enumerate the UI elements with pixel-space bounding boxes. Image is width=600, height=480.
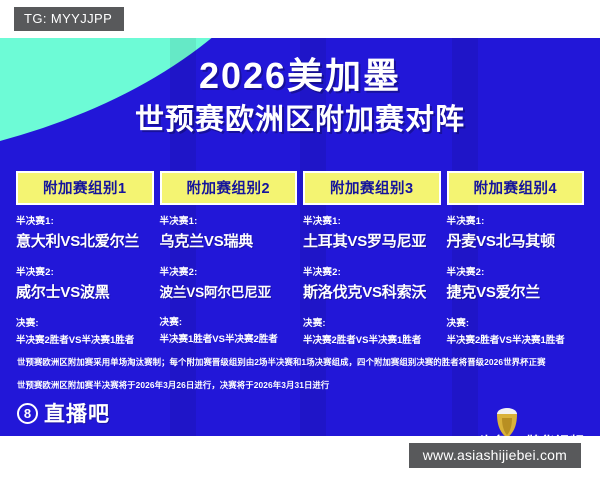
brand-name: 直播吧: [44, 398, 110, 428]
final-match: 半决赛1胜者VS半决赛2胜者: [160, 331, 298, 345]
final-match: 半决赛2胜者VS半决赛1胜者: [303, 332, 441, 346]
telegram-watermark: TG: MYYJJPP: [14, 7, 124, 31]
semifinal-1-match: 乌克兰VS瑞典: [160, 230, 298, 251]
semifinal-1-label: 半决赛1:: [160, 213, 298, 227]
footnotes: 世预赛欧洲区附加赛采用单场淘汰赛制；每个附加赛晋级组别由2场半决赛和1场决赛组成…: [17, 356, 589, 402]
semifinal-1-match: 丹麦VS北马其顿: [447, 230, 585, 251]
headline-line-2: 世预赛欧洲区附加赛对阵: [0, 105, 600, 137]
semifinal-2-match: 捷克VS爱尔兰: [447, 281, 585, 302]
semifinal-2-label: 半决赛2:: [303, 264, 441, 278]
semifinal-1-match: 土耳其VS罗马尼亚: [303, 230, 441, 251]
semifinal-2-match: 斯洛伐克VS科索沃: [303, 281, 441, 302]
group-column-2: 附加赛组别2 半决赛1: 乌克兰VS瑞典 半决赛2: 波兰VS阿尔巴尼亚 决赛:…: [160, 171, 298, 346]
poster-body: 2026美加墨 世预赛欧洲区附加赛对阵 附加赛组别1 半决赛1: 意大利VS北爱…: [0, 38, 600, 436]
semifinal-2-label: 半决赛2:: [160, 264, 298, 278]
group-body: 半决赛1: 意大利VS北爱尔兰 半决赛2: 威尔士VS波黑 决赛: 半决赛2胜者…: [16, 205, 154, 346]
playoff-bracket-grid: 附加赛组别1 半决赛1: 意大利VS北爱尔兰 半决赛2: 威尔士VS波黑 决赛:…: [16, 171, 584, 346]
semifinal-1-label: 半决赛1:: [16, 213, 154, 227]
final-match: 半决赛2胜者VS半决赛1胜者: [447, 332, 585, 346]
semifinal-1-label: 半决赛1:: [447, 213, 585, 227]
group-header: 附加赛组别4: [447, 171, 585, 205]
group-header: 附加赛组别1: [16, 171, 154, 205]
final-match: 半决赛2胜者VS半决赛1胜者: [16, 332, 154, 346]
group-body: 半决赛1: 乌克兰VS瑞典 半决赛2: 波兰VS阿尔巴尼亚 决赛: 半决赛1胜者…: [160, 205, 298, 345]
final-block: 决赛: 半决赛2胜者VS半决赛1胜者: [303, 315, 441, 346]
footnote-dates: 世预赛欧洲区附加赛半决赛将于2026年3月26日进行，决赛将于2026年3月31…: [17, 379, 589, 391]
group-column-4: 附加赛组别4 半决赛1: 丹麦VS北马其顿 半决赛2: 捷克VS爱尔兰 决赛: …: [447, 171, 585, 346]
headline-line-1: 2026美加墨: [0, 56, 600, 96]
semifinal-2-label: 半决赛2:: [16, 264, 154, 278]
site-url-watermark: www.asiashijiebei.com: [409, 443, 581, 468]
footnote-format: 世预赛欧洲区附加赛采用单场淘汰赛制；每个附加赛晋级组别由2场半决赛和1场决赛组成…: [17, 356, 589, 368]
final-label: 决赛:: [160, 314, 298, 328]
semifinal-2-label: 半决赛2:: [447, 264, 585, 278]
final-block: 决赛: 半决赛2胜者VS半决赛1胜者: [447, 315, 585, 346]
group-body: 半决赛1: 土耳其VS罗马尼亚 半决赛2: 斯洛伐克VS科索沃 决赛: 半决赛2…: [303, 205, 441, 346]
semifinal-2-match: 波兰VS阿尔巴尼亚: [160, 281, 298, 301]
final-label: 决赛:: [16, 315, 154, 329]
poster-screenshot: TG: MYYJJPP 2026美加墨 世预赛欧洲区附加赛对阵 附加赛组别1 半…: [0, 0, 600, 480]
final-block: 决赛: 半决赛1胜者VS半决赛2胜者: [160, 314, 298, 345]
poster-headline: 2026美加墨 世预赛欧洲区附加赛对阵: [0, 38, 600, 136]
group-header: 附加赛组别3: [303, 171, 441, 205]
semifinal-1-match: 意大利VS北爱尔兰: [16, 230, 154, 251]
semifinal-2-match: 威尔士VS波黑: [16, 281, 154, 302]
final-label: 决赛:: [303, 315, 441, 329]
brand-logo: 8 直播吧: [17, 398, 110, 428]
final-block: 决赛: 半决赛2胜者VS半决赛1胜者: [16, 315, 154, 346]
group-body: 半决赛1: 丹麦VS北马其顿 半决赛2: 捷克VS爱尔兰 决赛: 半决赛2胜者V…: [447, 205, 585, 346]
semifinal-1-label: 半决赛1:: [303, 213, 441, 227]
zhibo8-logo-icon: 8: [17, 403, 38, 424]
final-label: 决赛:: [447, 315, 585, 329]
group-header: 附加赛组别2: [160, 171, 298, 205]
group-column-3: 附加赛组别3 半决赛1: 土耳其VS罗马尼亚 半决赛2: 斯洛伐克VS科索沃 决…: [303, 171, 441, 346]
group-column-1: 附加赛组别1 半决赛1: 意大利VS北爱尔兰 半决赛2: 威尔士VS波黑 决赛:…: [16, 171, 154, 346]
